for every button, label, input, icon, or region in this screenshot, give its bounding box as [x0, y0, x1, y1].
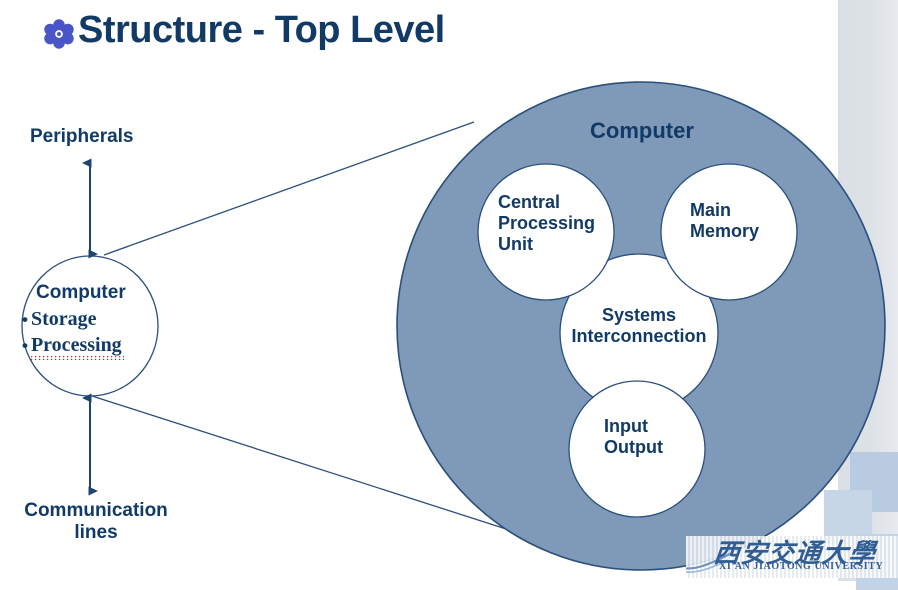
slide-title-row: Structure - Top Level [44, 10, 445, 52]
label-communication-line-2: lines [8, 522, 184, 544]
label-io-line-2: Output [604, 437, 704, 458]
left-oval-bullet-storage-text: Storage [31, 308, 97, 331]
label-cpu-line-1: Central [498, 192, 608, 213]
page-title: Structure - Top Level [78, 10, 445, 52]
logo-english-name: XI'AN JIAOTONG UNIVERSITY [719, 561, 883, 572]
label-cpu-line-2: Processing [498, 213, 608, 234]
flower-bullet-icon [44, 19, 74, 49]
label-input-output: Input Output [604, 416, 704, 458]
university-logo-watermark: 西安交通大學 XI'AN JIAOTONG UNIVERSITY [686, 528, 898, 581]
label-sysint-line-2: Interconnection [551, 326, 727, 347]
bullet-dot-icon: • [22, 311, 28, 328]
label-communication-lines: Communication lines [8, 500, 184, 545]
left-oval-bullet-storage: • Storage [22, 308, 158, 331]
label-main-memory-line-2: Memory [690, 221, 800, 242]
left-oval-title: Computer [36, 282, 158, 305]
label-cpu-line-3: Unit [498, 234, 608, 255]
label-communication-line-1: Communication [8, 500, 184, 522]
left-oval-content: Computer • Storage • Processing [22, 282, 158, 357]
label-io-line-1: Input [604, 416, 704, 437]
label-central-processing-unit: Central Processing Unit [498, 192, 608, 256]
label-systems-interconnection: Systems Interconnection [551, 305, 727, 347]
left-oval-bullet-processing: • Processing [22, 334, 158, 357]
left-oval-bullet-processing-text: Processing [31, 334, 122, 357]
label-sysint-line-1: Systems [551, 305, 727, 326]
label-main-memory-line-1: Main [690, 200, 800, 221]
bullet-dot-icon: • [22, 337, 28, 354]
label-big-circle-computer: Computer [556, 118, 728, 144]
label-main-memory: Main Memory [690, 200, 800, 242]
label-peripherals: Peripherals [30, 126, 134, 148]
